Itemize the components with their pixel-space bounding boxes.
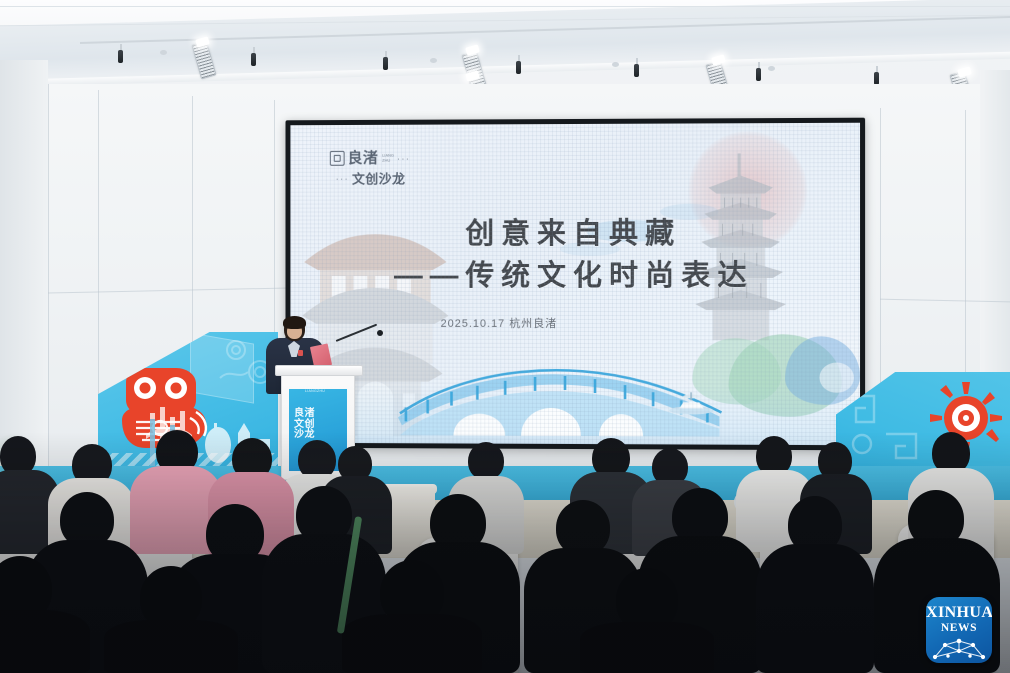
track-light — [251, 53, 256, 66]
bridge-illustration — [394, 356, 723, 439]
track-light — [634, 64, 639, 77]
microphone-head-icon — [377, 330, 383, 336]
watermark-line1: XINHUA — [926, 604, 992, 622]
photo-scene: 良渚 LIANG ZHU ··· ··· 文创沙龙 创意来自典藏 ——传统文化时… — [0, 0, 1010, 673]
slide-title: 创意来自典藏 — [290, 209, 860, 252]
smoke-detector — [612, 62, 619, 67]
podium-top — [275, 365, 363, 376]
logo-dots-left: ··· — [336, 173, 349, 183]
speaker-badge — [298, 350, 303, 356]
slide-subtitle: ——传统文化时尚表达 — [290, 252, 860, 294]
xinhua-news-watermark: XINHUA NEWS — [926, 597, 992, 663]
liangzhu-seal-icon — [330, 151, 345, 166]
logo-tiny-text: LIANG ZHU — [382, 154, 394, 163]
slide-surface: 良渚 LIANG ZHU ··· ··· 文创沙龙 创意来自典藏 ——传统文化时… — [290, 123, 860, 446]
watermark-line2: NEWS — [926, 622, 992, 634]
logo-sub-text: 文创沙龙 — [352, 169, 405, 188]
logo-row-secondary: ··· 文创沙龙 — [330, 168, 437, 187]
logo-dots-right: ··· — [397, 153, 410, 163]
led-screen: 良渚 LIANG ZHU ··· ··· 文创沙龙 创意来自典藏 ——传统文化时… — [285, 118, 865, 451]
logo-row-primary: 良渚 LIANG ZHU ··· — [330, 151, 437, 166]
wall-seam — [48, 84, 49, 484]
smoke-detector — [768, 66, 775, 71]
podium-banner-line3: 沙龙 — [294, 429, 315, 440]
node-network-icon — [931, 637, 987, 661]
slide-meta: 2025.10.17 杭州良渚 — [441, 315, 558, 331]
room-interior: 良渚 LIANG ZHU ··· ··· 文创沙龙 创意来自典藏 ——传统文化时… — [0, 0, 1010, 673]
ceiling-seam — [0, 6, 1010, 7]
podium-banner-line1: 良渚 — [294, 408, 315, 419]
track-light — [756, 68, 761, 81]
logo-tiny-line2: ZHU — [382, 157, 390, 162]
smoke-detector — [430, 58, 437, 63]
podium-banner-text: 良渚 文创 沙龙 — [289, 393, 347, 441]
left-wall-return — [0, 60, 48, 490]
podium-banner-line2: 文创 — [294, 419, 315, 430]
track-light — [516, 61, 521, 74]
vent-light-glow — [957, 66, 972, 77]
logo-main-text: 良渚 — [348, 151, 379, 166]
smoke-detector — [160, 50, 167, 55]
track-light — [383, 57, 388, 70]
speaker-hair — [283, 316, 306, 329]
slide-logo: 良渚 LIANG ZHU ··· ··· 文创沙龙 — [330, 151, 437, 188]
track-light — [118, 50, 123, 63]
